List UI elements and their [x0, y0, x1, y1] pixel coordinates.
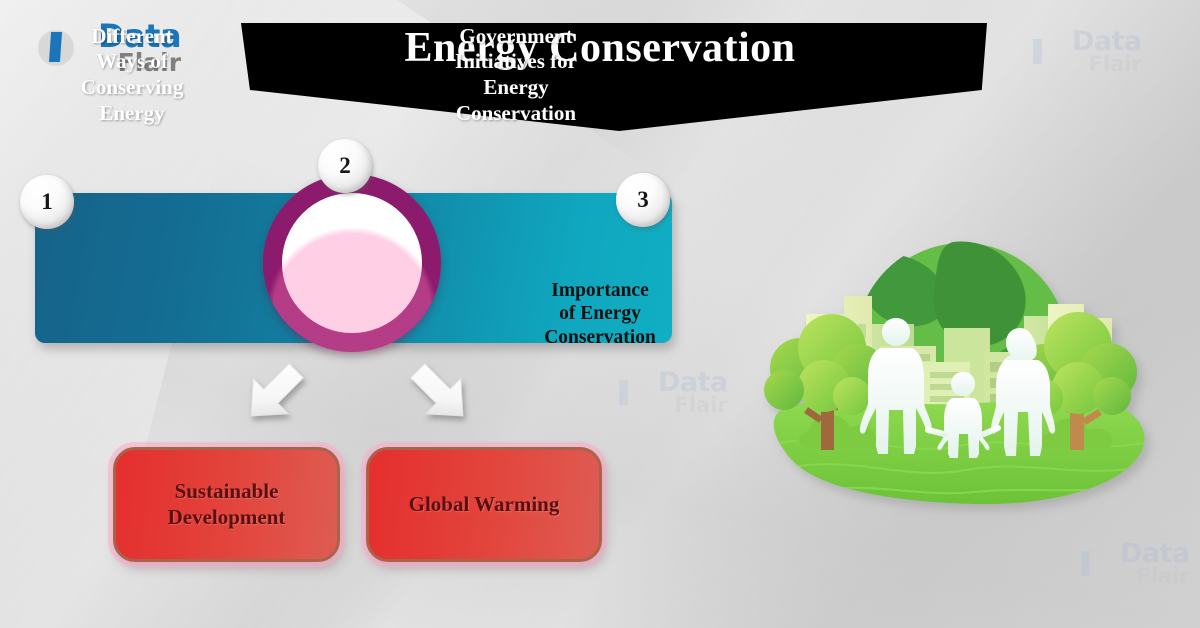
pillar-badge-2: 2	[318, 139, 372, 193]
eco-city-family-papercut-illustration	[748, 196, 1178, 526]
outcome-box-sustainable-development: SustainableDevelopment	[113, 447, 340, 562]
pillar-badge-3: 3	[616, 173, 670, 227]
infographic-canvas: Data Flair Data Flair Data Flair Data Fl…	[0, 0, 1200, 628]
arrow-down-right-icon	[404, 357, 478, 436]
arrow-down-left-icon	[236, 357, 310, 436]
outcome-box-global-warming: Global Warming	[366, 447, 602, 562]
pillar-badge-1: 1	[20, 175, 74, 229]
